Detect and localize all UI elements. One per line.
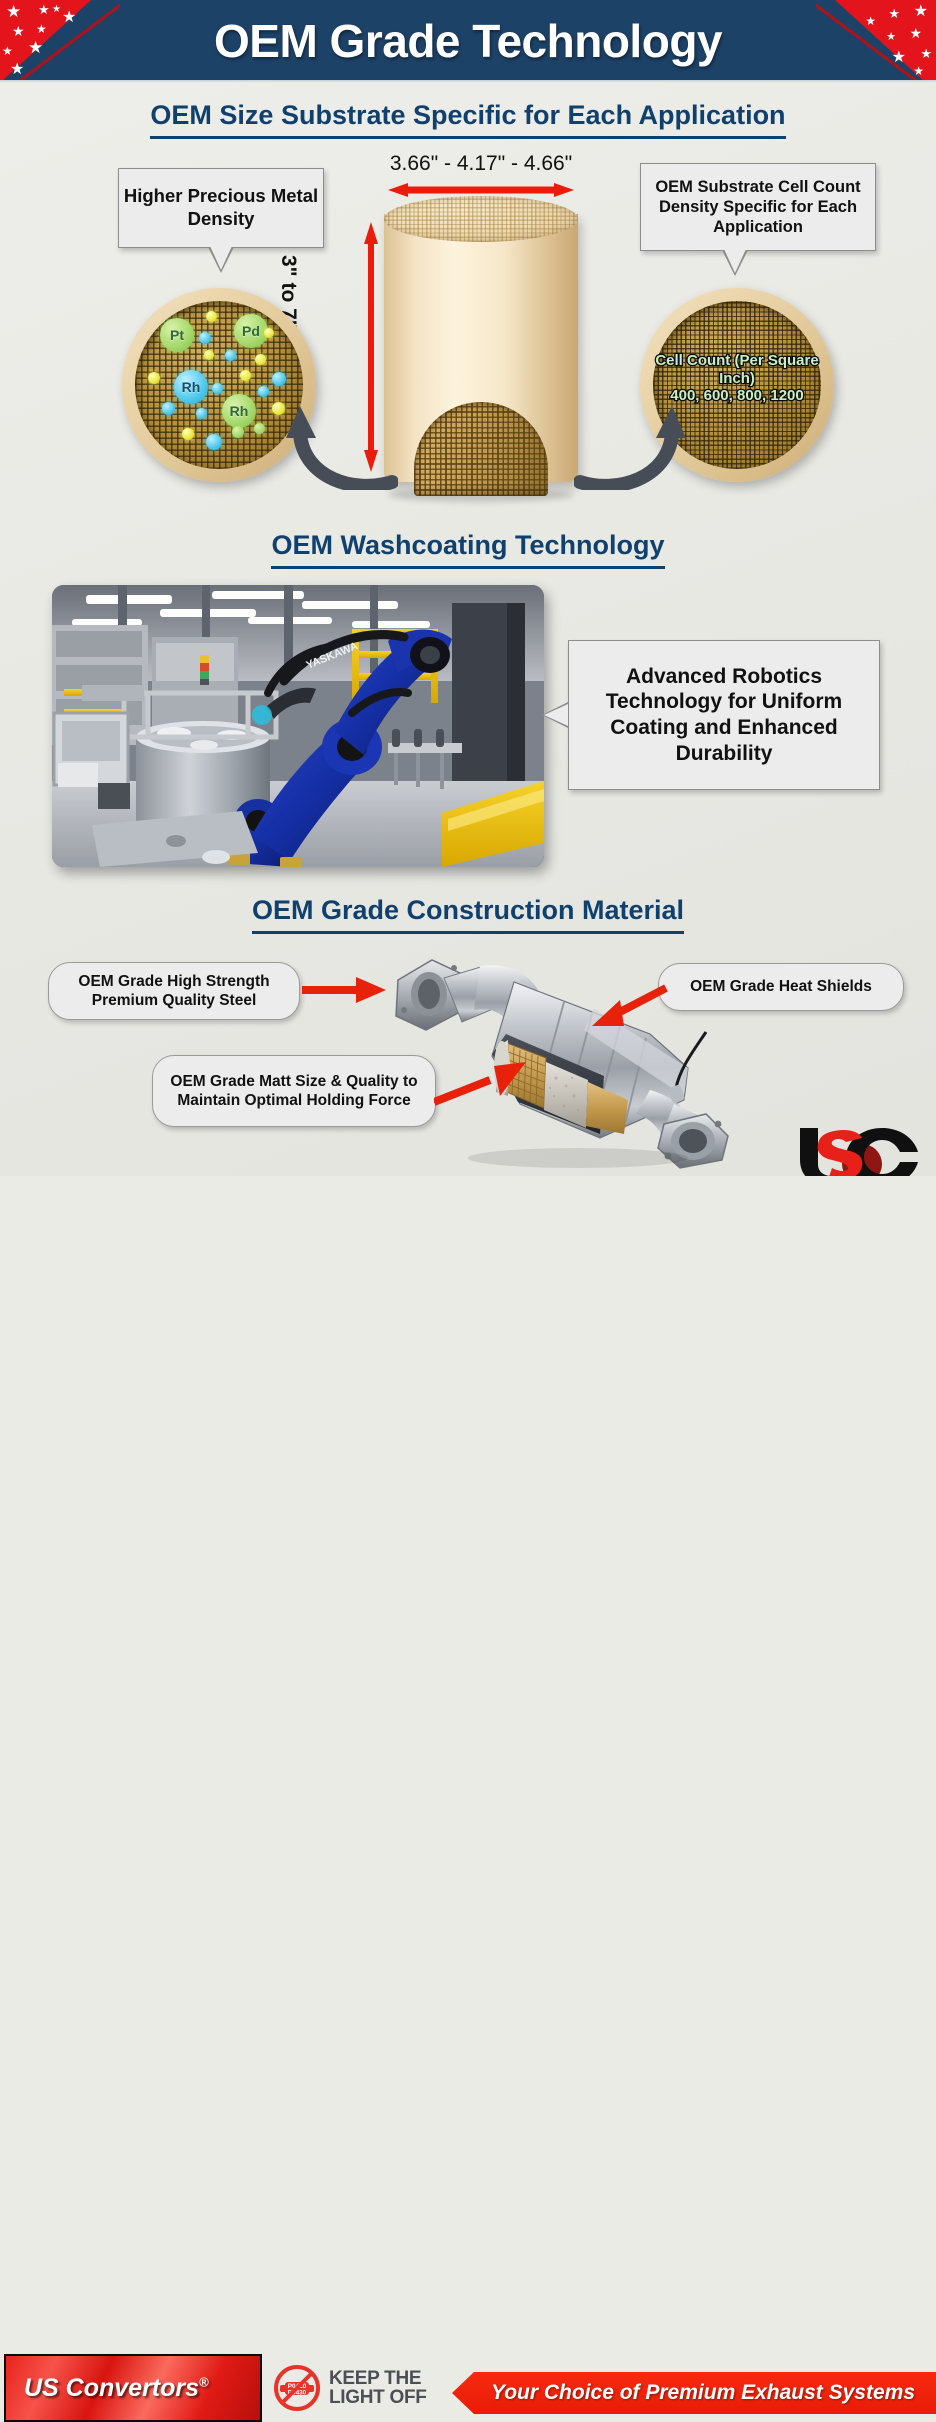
substrate-width-label: 3.66" - 4.17" - 4.66" xyxy=(348,152,614,176)
particle-small xyxy=(272,402,285,415)
particle-small xyxy=(204,350,214,360)
brand-plate: US Convertors® xyxy=(4,2354,262,2422)
keep-light-off-badge: P0420 P0430 KEEP THE LIGHT OFF xyxy=(272,2362,440,2414)
curved-arrow-to-left-circle xyxy=(286,398,398,490)
arrow-steel xyxy=(302,977,386,1003)
particle-small xyxy=(182,428,194,440)
particle-small xyxy=(272,372,286,386)
particle-small xyxy=(255,354,266,365)
substrate-honeycomb-top xyxy=(384,196,578,242)
callout-cell-count-density-text: OEM Substrate Cell Count Density Specifi… xyxy=(641,177,875,237)
page-footer: US Convertors® P0420 P0430 KEEP THE LIGH… xyxy=(0,1176,936,1248)
callout-heat-shields: OEM Grade Heat Shields xyxy=(658,963,904,1011)
tagline-text: Your Choice of Premium Exhaust Systems xyxy=(473,2381,915,2405)
callout-matt-quality: OEM Grade Matt Size & Quality to Maintai… xyxy=(152,1055,436,1127)
particle-small xyxy=(240,370,251,381)
washcoating-robot-photo: YASKAWA xyxy=(52,585,544,867)
callout-precious-metal-density: Higher Precious Metal Density xyxy=(118,168,324,248)
callout-heat-shields-text: OEM Grade Heat Shields xyxy=(690,977,872,996)
keep-light-off-text: KEEP THE LIGHT OFF xyxy=(329,2369,427,2407)
substrate-cylinder xyxy=(384,196,578,496)
particle-pd: Pd xyxy=(234,314,268,348)
particle-rh-green: Rh xyxy=(222,394,256,428)
arrow-heat-shields xyxy=(586,984,668,1026)
particle-pt: Pt xyxy=(160,318,194,352)
particle-small xyxy=(212,383,223,394)
arrow-matt xyxy=(434,1062,532,1106)
infographic-page: ★ ★ ★ ★ ★ ★ ★ ★ ★ ★ ★ ★ ★ ★ ★ ★ ★ OEM Gr… xyxy=(0,0,936,1248)
callout-advanced-robotics: Advanced Robotics Technology for Uniform… xyxy=(568,640,880,790)
callout-premium-steel: OEM Grade High Strength Premium Quality … xyxy=(48,962,300,1020)
section-heading-size: OEM Size Substrate Specific for Each App… xyxy=(0,100,936,139)
particle-small xyxy=(264,328,274,338)
no-check-engine-light-icon: P0420 P0430 xyxy=(272,2363,322,2413)
header-divider xyxy=(0,80,936,83)
particle-small xyxy=(206,311,217,322)
particle-small xyxy=(225,350,236,361)
particle-small xyxy=(206,434,222,450)
callout-cell-count-density: OEM Substrate Cell Count Density Specifi… xyxy=(640,163,876,251)
particle-rh-cyan: Rh xyxy=(174,370,208,404)
particle-small xyxy=(148,372,160,384)
particle-small xyxy=(254,423,265,434)
curved-arrow-to-right-circle xyxy=(574,398,686,490)
section-heading-washcoating: OEM Washcoating Technology xyxy=(0,530,936,569)
callout-precious-metal-density-text: Higher Precious Metal Density xyxy=(119,185,323,230)
particle-small xyxy=(196,408,207,419)
particle-small xyxy=(258,386,269,397)
brand-name: US Convertors® xyxy=(24,2374,209,2403)
tagline-ribbon: Your Choice of Premium Exhaust Systems xyxy=(452,2372,936,2414)
particle-small xyxy=(232,426,244,438)
callout-premium-steel-text: OEM Grade High Strength Premium Quality … xyxy=(49,972,299,1011)
section-heading-construction: OEM Grade Construction Material xyxy=(0,895,936,934)
page-title: OEM Grade Technology xyxy=(0,0,936,82)
particle-small xyxy=(162,402,175,415)
width-dimension-arrow xyxy=(388,183,574,197)
particle-small xyxy=(199,332,211,344)
callout-advanced-robotics-text: Advanced Robotics Technology for Uniform… xyxy=(569,664,879,766)
page-header: ★ ★ ★ ★ ★ ★ ★ ★ ★ ★ ★ ★ ★ ★ ★ ★ ★ OEM Gr… xyxy=(0,0,936,82)
callout-matt-quality-text: OEM Grade Matt Size & Quality to Maintai… xyxy=(153,1072,435,1111)
